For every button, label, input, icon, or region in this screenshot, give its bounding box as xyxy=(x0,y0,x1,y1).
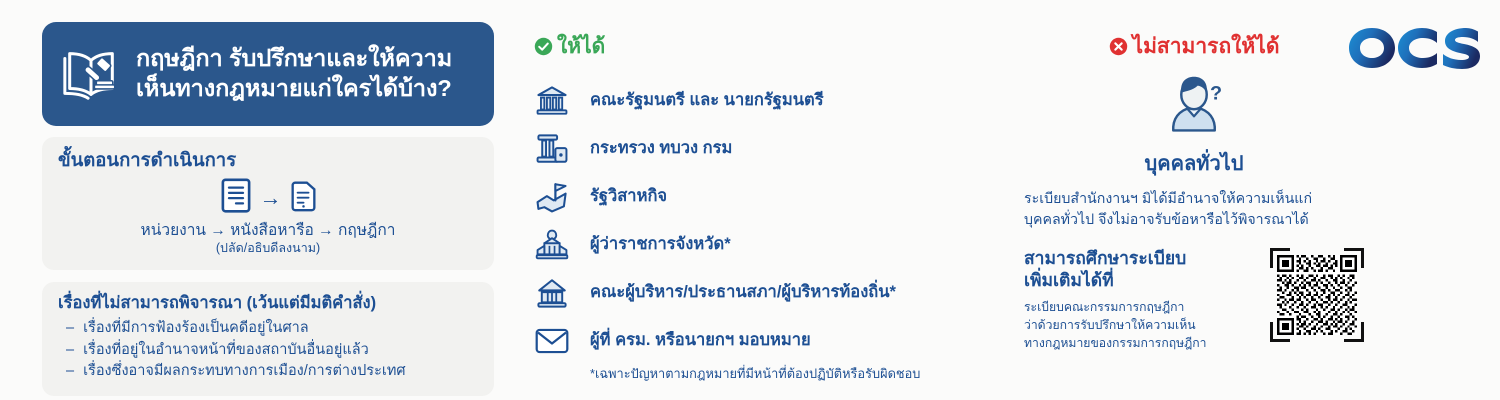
denied-subject-label: บุคคลทั่วไป xyxy=(1024,147,1364,179)
allowed-heading-row: ให้ได้ xyxy=(534,30,1004,63)
list-item: คณะผู้บริหาร/ประธานสภา/ผู้บริหารท้องถิ่น… xyxy=(534,269,1004,317)
provincial-hall-icon xyxy=(534,227,570,263)
dash-bullet: – xyxy=(66,340,74,362)
denied-body-line-2: บุคคลทั่วไป จึงไม่อาจรับข้อหารือไว้พิจาร… xyxy=(1024,210,1364,231)
person-question-icon: ? xyxy=(1161,72,1227,143)
list-item-label: กระทรวง ทบวง กรม xyxy=(590,139,732,159)
left-column: กฤษฎีกา รับปรึกษาและให้ความ เห็นทางกฎหมา… xyxy=(42,22,494,396)
allowed-column: ให้ได้ คณะรัฐมนตรี แล xyxy=(534,30,1004,383)
svg-text:?: ? xyxy=(1210,82,1222,104)
study-more-row: สามารถศึกษาระเบียบ เพิ่มเติมได้ที่ ระเบี… xyxy=(1024,248,1364,352)
book-gavel-icon xyxy=(60,43,122,105)
exclusions-list: – เรื่องที่มีการฟ้องร้องเป็นคดีอยู่ในศาล… xyxy=(58,318,478,383)
study-heading-line-2: เพิ่มเติมได้ที่ xyxy=(1024,270,1260,292)
ocs-logo[interactable] xyxy=(1346,22,1482,72)
list-item-label: เรื่องซึ่งอาจมีผลกระทบทางการเมือง/การต่า… xyxy=(83,361,406,383)
list-item-label: คณะผู้บริหาร/ประธานสภา/ผู้บริหารท้องถิ่น… xyxy=(590,283,896,303)
x-circle-icon xyxy=(1109,37,1128,56)
person-illustration: ? xyxy=(1024,72,1364,143)
infographic-canvas: กฤษฎีกา รับปรึกษาและให้ความ เห็นทางกฎหมา… xyxy=(0,0,1500,400)
list-item: รัฐวิสาหกิจ xyxy=(534,173,1004,221)
list-item-label: ผู้ว่าราชการจังหวัด* xyxy=(590,235,731,255)
process-card: ขั้นตอนการดำเนินการ → xyxy=(42,137,494,270)
list-item: – เรื่องซึ่งอาจมีผลกระทบทางการเมือง/การต… xyxy=(58,361,478,383)
bank-columns-icon xyxy=(534,83,570,119)
check-circle-icon xyxy=(534,37,553,56)
dash-bullet: – xyxy=(66,361,74,383)
list-item: – เรื่องที่มีการฟ้องร้องเป็นคดีอยู่ในศาล xyxy=(58,318,478,340)
list-item-label: ผู้ที่ ครม. หรือนายกฯ มอบหมาย xyxy=(590,331,811,351)
study-subtext-line-2: ว่าด้วยการรับปรึกษาให้ความเห็น xyxy=(1024,317,1260,335)
list-item: ผู้ว่าราชการจังหวัด* xyxy=(534,221,1004,269)
qr-matrix xyxy=(1277,255,1357,335)
study-subtext-line-3: ทางกฎหมายของกรรมการกฤษฎีกา xyxy=(1024,335,1260,353)
title-line-2: เห็นทางกฎหมายแก่ใครได้บ้าง? xyxy=(136,74,452,104)
process-flow-sublabel: (ปลัด/อธิบดีลงนาม) xyxy=(58,241,478,257)
study-heading-line-1: สามารถศึกษาระเบียบ xyxy=(1024,248,1260,270)
document-note-icon xyxy=(291,180,316,217)
process-flow-icons: → xyxy=(58,178,478,218)
arrow-right-icon: → xyxy=(260,187,282,209)
denied-column: ไม่สามารถให้ได้ ? บุคคลทั่วไป ระเบียบสำน… xyxy=(1024,30,1364,352)
list-item: คณะรัฐมนตรี และ นายกรัฐมนตรี xyxy=(534,77,1004,125)
list-item: ผู้ที่ ครม. หรือนายกฯ มอบหมาย xyxy=(534,317,1004,365)
list-item-label: เรื่องที่อยู่ในอำนาจหน้าที่ของสถาบันอื่น… xyxy=(83,340,369,362)
list-item-label: รัฐวิสาหกิจ xyxy=(590,187,667,207)
allowed-footnote: *เฉพาะปัญหาตามกฎหมายที่มีหน้าที่ต้องปฏิบ… xyxy=(534,366,1004,383)
study-heading: สามารถศึกษาระเบียบ เพิ่มเติมได้ที่ xyxy=(1024,248,1260,291)
local-government-icon xyxy=(534,275,570,311)
denied-heading: ไม่สามารถให้ได้ xyxy=(1133,30,1280,63)
title-line-1: กฤษฎีกา รับปรึกษาและให้ความ xyxy=(136,45,452,71)
allowed-heading: ให้ได้ xyxy=(557,30,605,63)
envelope-icon xyxy=(534,323,570,359)
study-subtext-line-1: ระเบียบคณะกรรมการกฤษฎีกา xyxy=(1024,299,1260,317)
ministry-pillar-icon xyxy=(534,131,570,167)
denied-heading-row: ไม่สามารถให้ได้ xyxy=(1024,30,1364,63)
page-title: กฤษฎีกา รับปรึกษาและให้ความ เห็นทางกฎหมา… xyxy=(136,44,452,103)
list-item: – เรื่องที่อยู่ในอำนาจหน้าที่ของสถาบันอื… xyxy=(58,340,478,362)
denied-body-line-1: ระเบียบสำนักงานฯ มิได้มีอำนาจให้ความเห็น… xyxy=(1024,189,1364,210)
allowed-list: คณะรัฐมนตรี และ นายกรัฐมนตรี xyxy=(534,77,1004,365)
process-flow-label: หน่วยงาน → หนังสือหารือ → กฤษฎีกา xyxy=(58,221,478,240)
qr-code-icon[interactable] xyxy=(1270,248,1364,342)
denied-body: ระเบียบสำนักงานฯ มิได้มีอำนาจให้ความเห็น… xyxy=(1024,189,1364,231)
document-lines-icon xyxy=(221,178,251,218)
dash-bullet: – xyxy=(66,318,74,340)
exclusions-heading: เรื่องที่ไม่สามารถพิจารณา (เว้นแต่มีมติค… xyxy=(58,293,478,314)
list-item: กระทรวง ทบวง กรม xyxy=(534,125,1004,173)
study-more-text: สามารถศึกษาระเบียบ เพิ่มเติมได้ที่ ระเบี… xyxy=(1024,248,1260,352)
exclusions-card: เรื่องที่ไม่สามารถพิจารณา (เว้นแต่มีมติค… xyxy=(42,282,494,396)
list-item-label: คณะรัฐมนตรี และ นายกรัฐมนตรี xyxy=(590,91,824,111)
study-subtext: ระเบียบคณะกรรมการกฤษฎีกา ว่าด้วยการรับปร… xyxy=(1024,299,1260,352)
process-heading: ขั้นตอนการดำเนินการ xyxy=(58,149,478,171)
title-card: กฤษฎีกา รับปรึกษาและให้ความ เห็นทางกฎหมา… xyxy=(42,22,494,126)
flag-territory-icon xyxy=(534,179,570,215)
list-item-label: เรื่องที่มีการฟ้องร้องเป็นคดีอยู่ในศาล xyxy=(83,318,309,340)
